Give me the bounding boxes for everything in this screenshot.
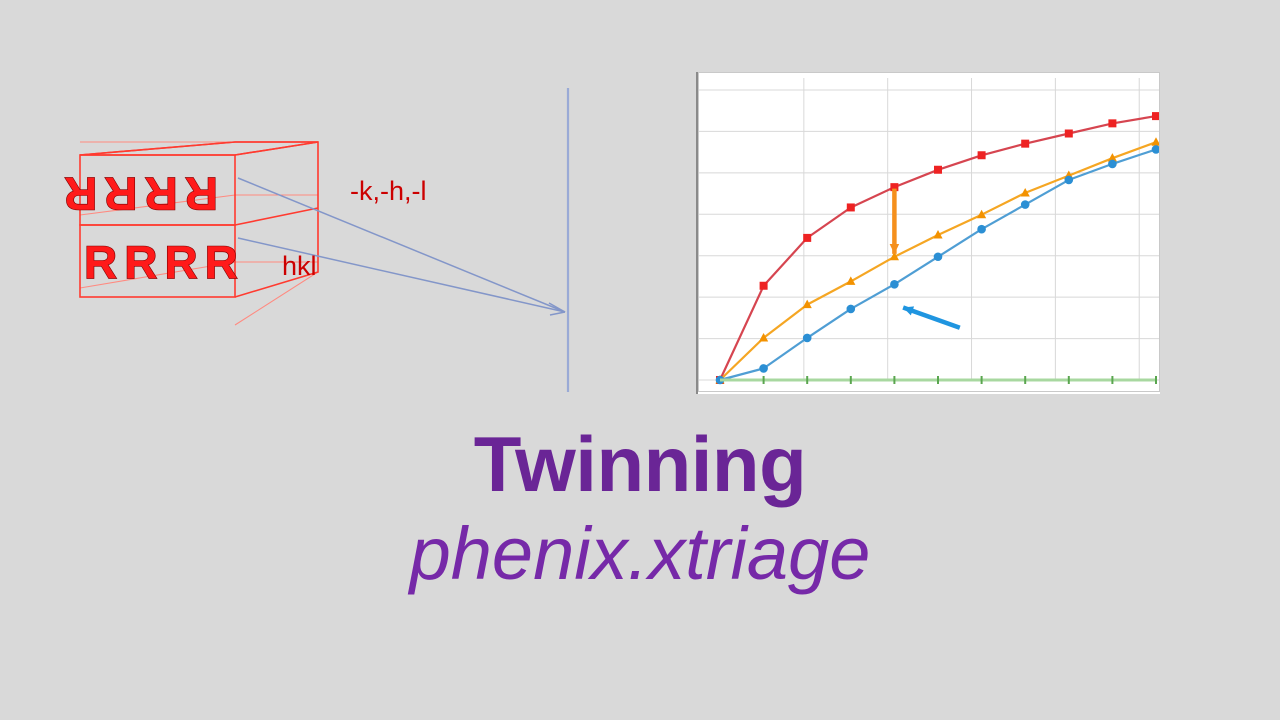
data-point-perfectly-twinned	[1152, 145, 1160, 154]
lower-domain-text: RRRR	[84, 236, 245, 288]
crystal-diagram: RRRR RRRR -k,-h,-l hkl	[60, 120, 580, 420]
page-title: Twinning	[0, 425, 1280, 505]
data-point-perfectly-twinned	[977, 225, 986, 234]
data-point-perfectly-twinned	[890, 280, 899, 289]
data-point-untwinned	[1108, 119, 1116, 127]
data-point-untwinned	[1065, 130, 1073, 138]
title-block: Twinning phenix.xtriage	[0, 425, 1280, 596]
data-point-untwinned	[978, 151, 986, 159]
chart-svg	[698, 72, 1160, 392]
data-point-untwinned	[760, 282, 768, 290]
page-subtitle: phenix.xtriage	[0, 511, 1280, 596]
plot-background	[698, 72, 1160, 392]
data-point-untwinned	[934, 166, 942, 174]
data-point-perfectly-twinned	[934, 252, 943, 261]
upper-domain-letters: RRRR	[60, 168, 218, 220]
data-point-untwinned	[1021, 140, 1029, 148]
data-point-perfectly-twinned	[759, 364, 768, 373]
data-point-untwinned	[803, 234, 811, 242]
data-point-perfectly-twinned	[1065, 176, 1074, 185]
cumulative-intensity-chart	[696, 72, 1160, 394]
data-point-untwinned	[847, 203, 855, 211]
label-hkl: hkl	[282, 251, 317, 281]
data-point-perfectly-twinned	[1021, 200, 1030, 209]
data-point-untwinned	[1152, 112, 1160, 120]
data-point-perfectly-twinned	[803, 334, 812, 343]
data-point-perfectly-twinned	[1108, 160, 1117, 169]
box-right-mid-edge	[235, 208, 318, 225]
box-top-front-edge	[80, 142, 235, 155]
box-top-face	[80, 142, 318, 155]
slide-canvas: RRRR RRRR -k,-h,-l hkl	[0, 0, 1280, 720]
crystal-diagram-svg: RRRR RRRR -k,-h,-l hkl	[60, 120, 580, 420]
label-minus-k-minus-h-minus-l: -k,-h,-l	[350, 176, 427, 206]
upper-domain-text: RRRR	[60, 168, 218, 220]
data-point-perfectly-twinned	[847, 305, 856, 314]
detector-line-svg	[556, 80, 586, 400]
